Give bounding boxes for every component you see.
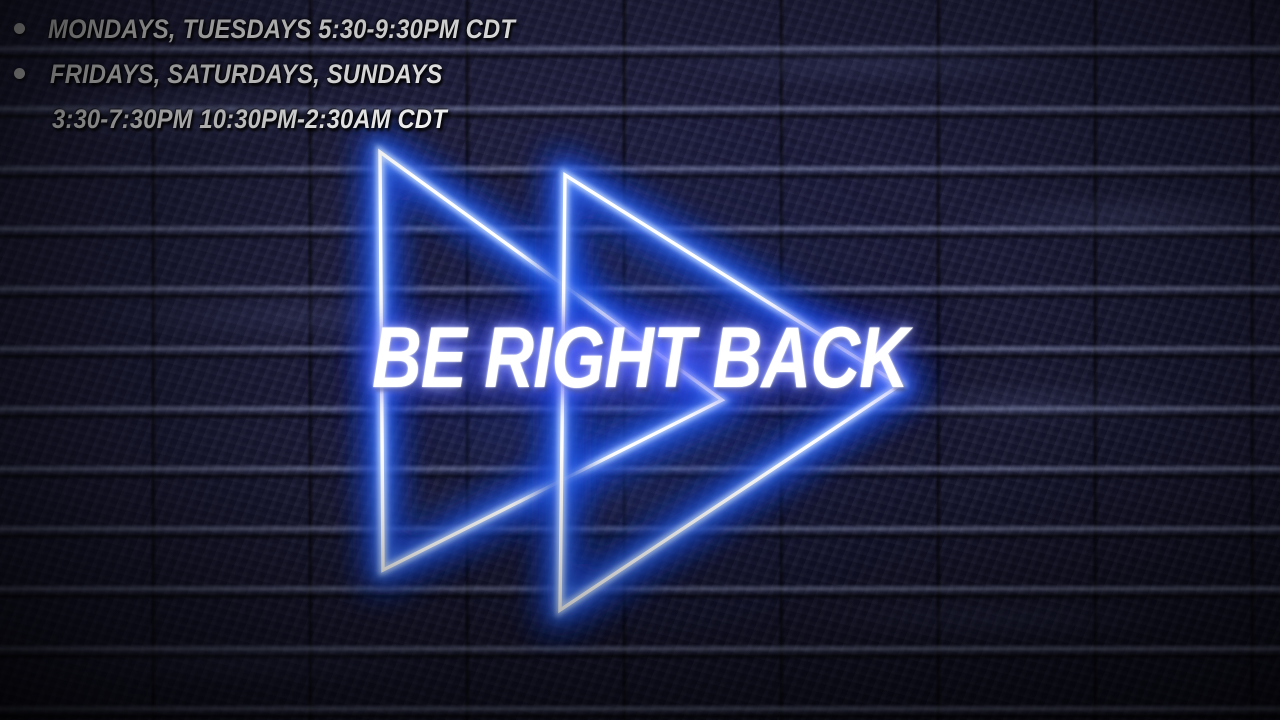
stream-overlay-stage: BE RIGHT BACK MONDAYS, TUESDAYS 5:30-9:3… [0,0,1280,720]
vignette-overlay [0,0,1280,720]
